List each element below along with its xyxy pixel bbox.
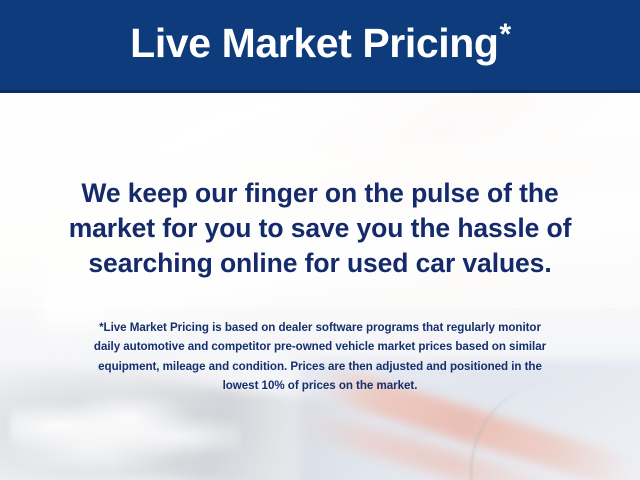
page-title: Live Market Pricing* (130, 23, 510, 64)
header-bar: Live Market Pricing* (0, 0, 640, 93)
headline-line-2: market for you to save you the hassle of (0, 211, 640, 246)
live-market-pricing-banner: Live Market Pricing* We keep our finger … (0, 0, 640, 480)
headline: We keep our finger on the pulse of the m… (0, 176, 640, 281)
disclaimer-line-1: *Live Market Pricing is based on dealer … (0, 318, 640, 337)
headline-line-1: We keep our finger on the pulse of the (0, 176, 640, 211)
disclaimer: *Live Market Pricing is based on dealer … (0, 318, 640, 396)
headline-line-3: searching online for used car values. (0, 246, 640, 281)
disclaimer-line-2: daily automotive and competitor pre-owne… (0, 337, 640, 356)
page-title-text: Live Market Pricing (130, 20, 498, 66)
disclaimer-line-4: lowest 10% of prices on the market. (0, 376, 640, 395)
page-title-asterisk: * (500, 18, 511, 51)
disclaimer-line-3: equipment, mileage and condition. Prices… (0, 357, 640, 376)
